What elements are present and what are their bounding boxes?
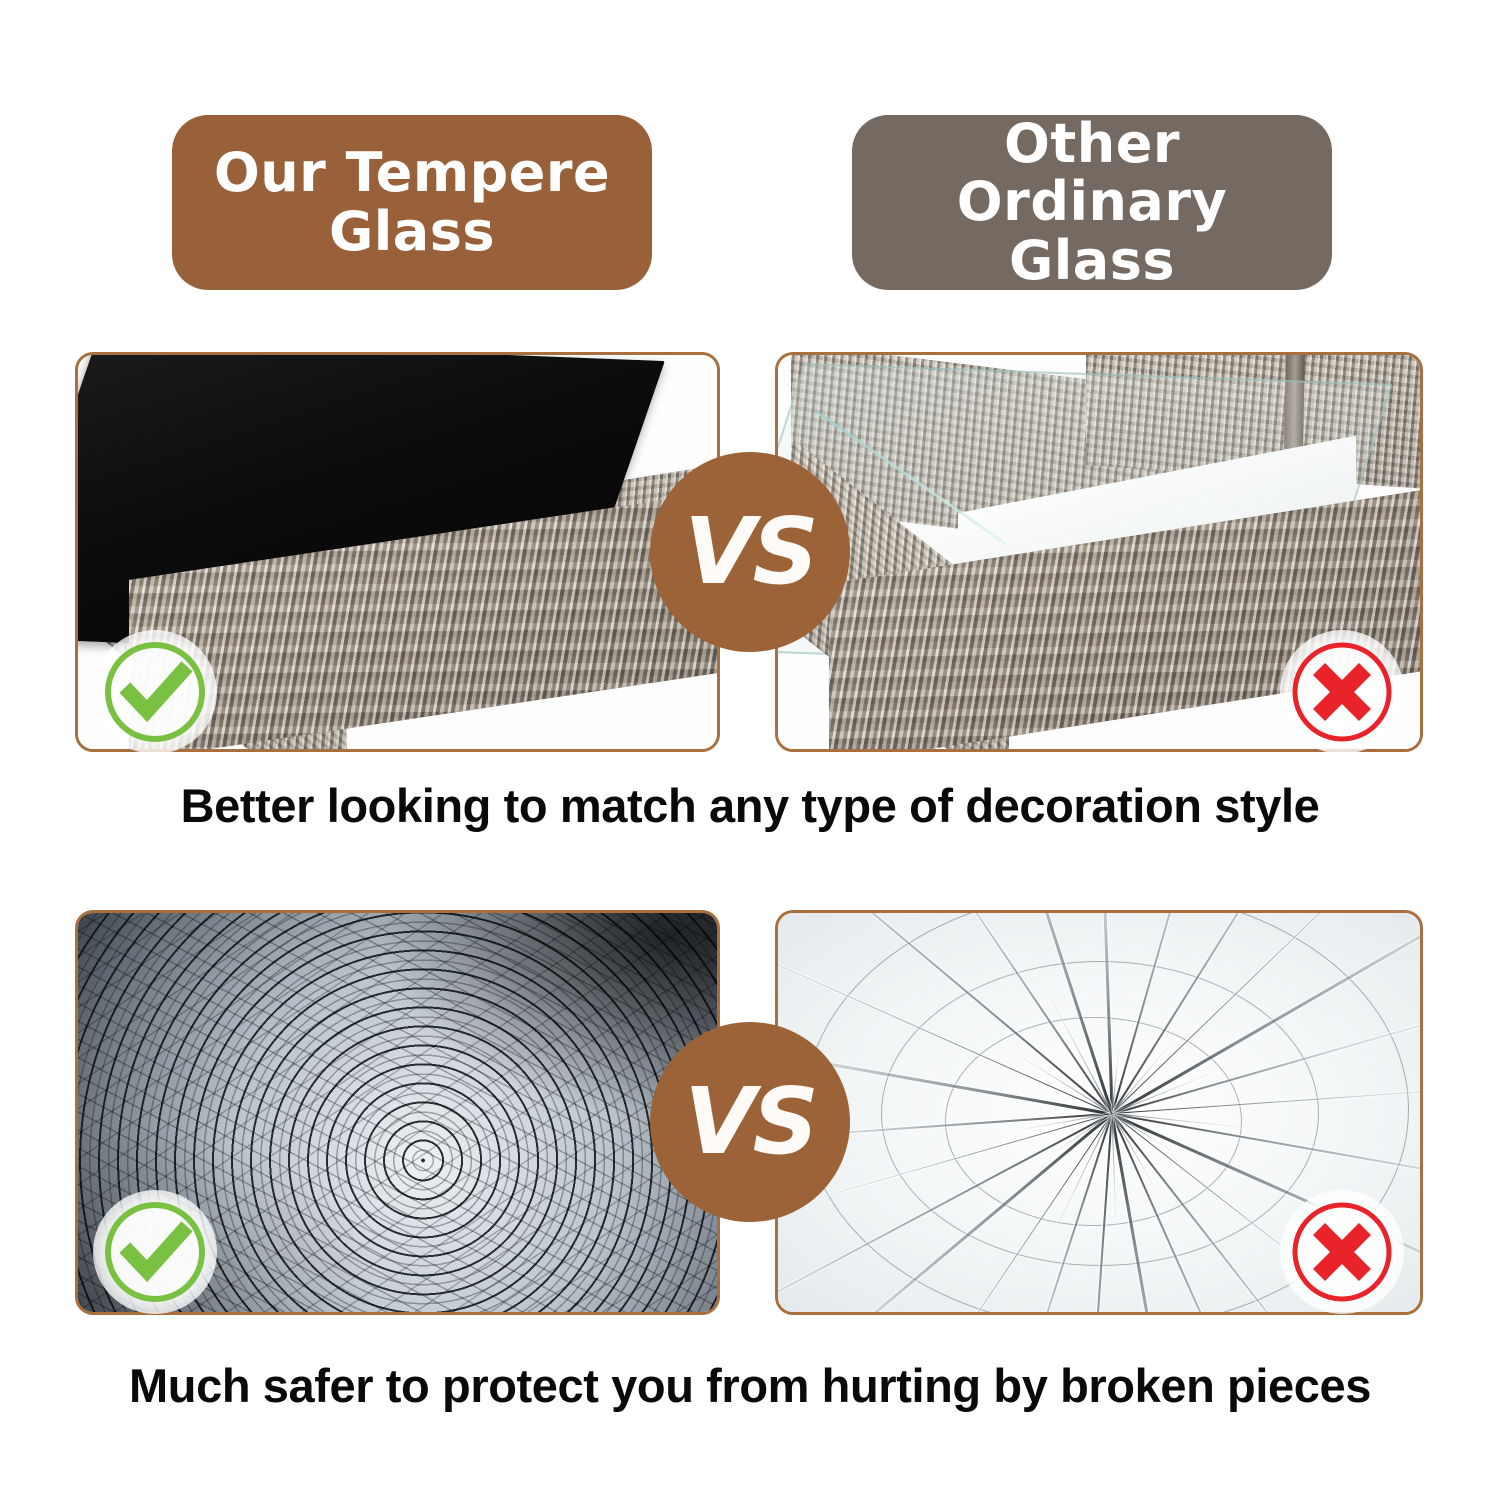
product-comparison-infographic: Our Tempere Glass Other Ordinary Glass xyxy=(0,0,1500,1500)
header-right-line1: Other Ordinary xyxy=(957,112,1227,233)
header-badge-our-tempered-glass: Our Tempere Glass xyxy=(172,115,652,290)
check-circle-icon xyxy=(96,1193,214,1311)
header-right-text: Other Ordinary Glass xyxy=(878,115,1306,290)
vs-label: VS xyxy=(684,506,815,598)
header-left-line1: Our Tempere xyxy=(214,141,610,204)
cross-circle-icon xyxy=(1283,633,1401,751)
cross-circle-icon xyxy=(1283,1193,1401,1311)
header-badge-other-ordinary-glass: Other Ordinary Glass xyxy=(852,115,1332,290)
header-left-text: Our Tempere Glass xyxy=(214,144,610,261)
check-circle-icon xyxy=(96,633,214,751)
vs-badge-row-2: VS xyxy=(650,1022,850,1222)
caption-row-1: Better looking to match any type of deco… xyxy=(0,778,1500,833)
header-left-line2: Glass xyxy=(329,200,495,263)
header-right-line2: Glass xyxy=(1009,229,1175,292)
vs-badge-row-1: VS xyxy=(650,452,850,652)
vs-label: VS xyxy=(684,1076,815,1168)
caption-row-2: Much safer to protect you from hurting b… xyxy=(0,1358,1500,1413)
